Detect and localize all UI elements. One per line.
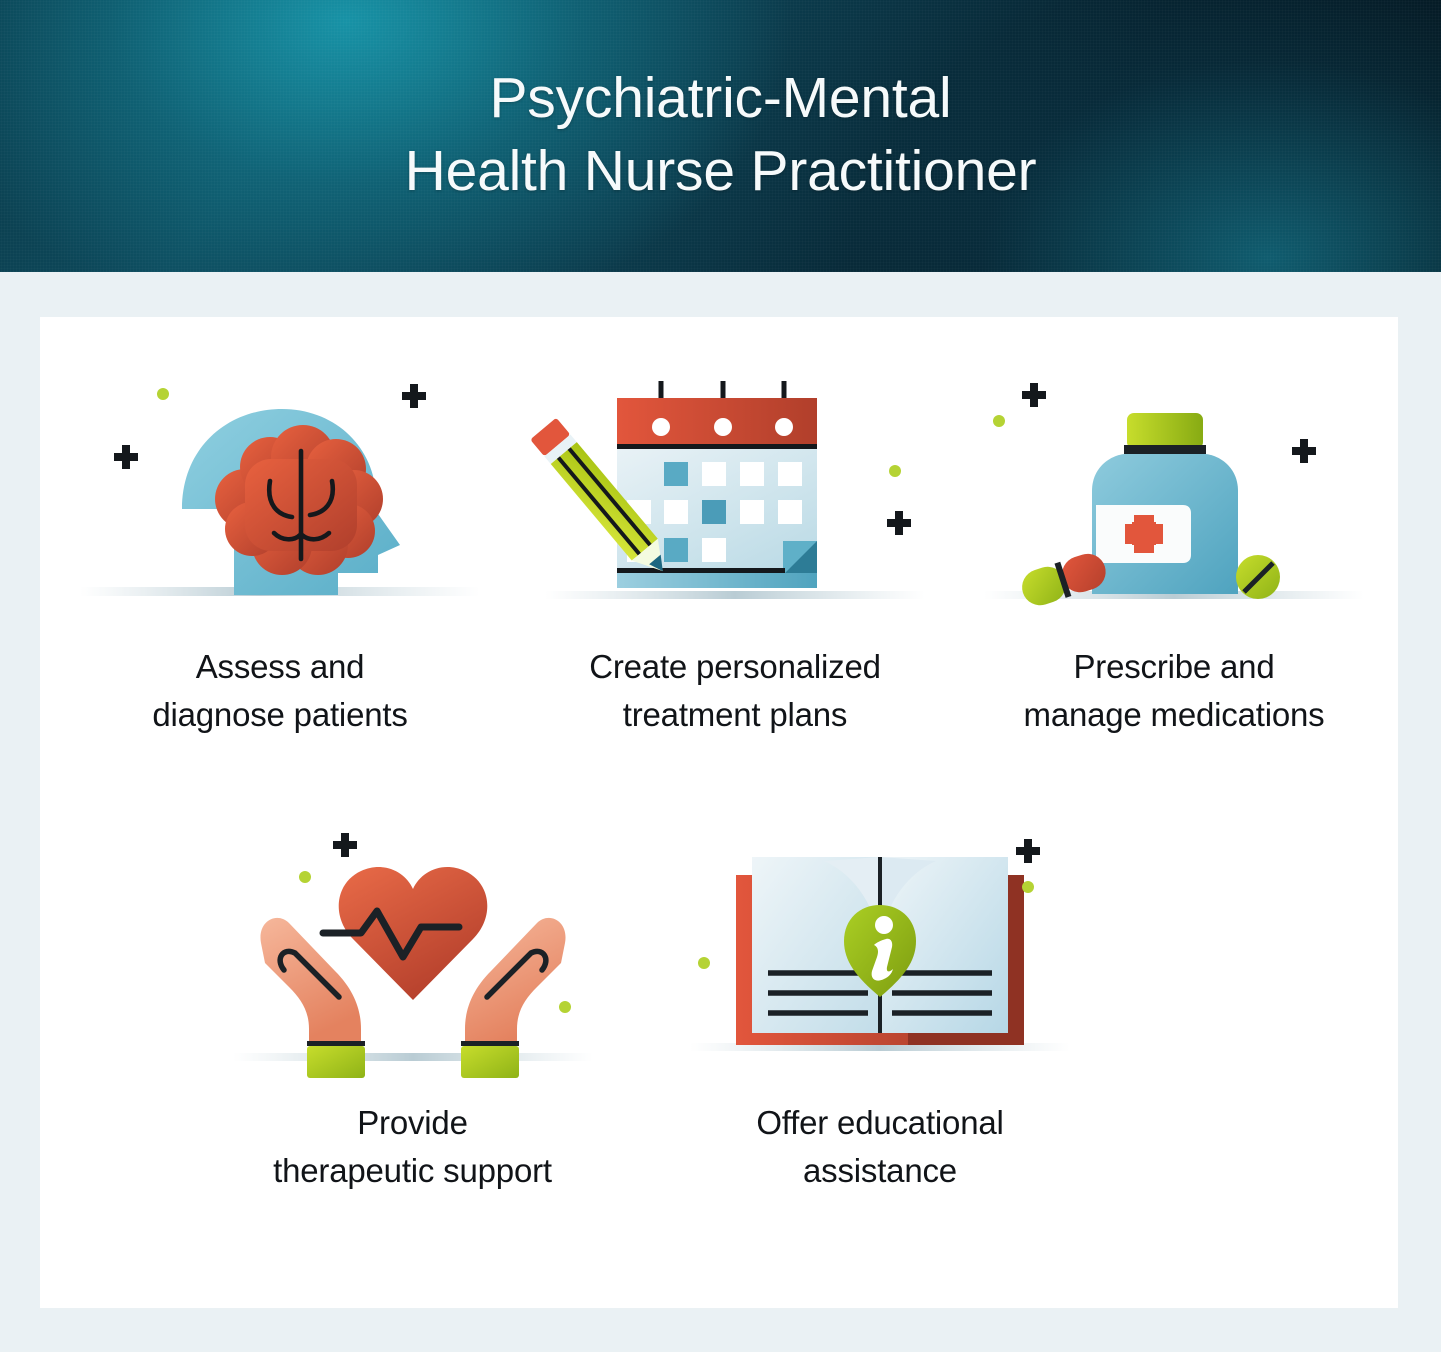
caption-line-2: diagnose patients <box>152 696 407 733</box>
caption-line-2: therapeutic support <box>273 1152 552 1189</box>
caption-line-2: treatment plans <box>623 696 847 733</box>
hands-heart-icon <box>213 815 613 1083</box>
caption-line-1: Assess and <box>196 648 365 685</box>
item-caption: Offer educationalassistance <box>756 1099 1003 1195</box>
head-brain-icon <box>70 359 490 627</box>
caption-line-1: Offer educational <box>756 1104 1003 1141</box>
page-title-line-2: Health Nurse Practitioner <box>0 135 1441 208</box>
header-banner: Psychiatric-Mental Health Nurse Practiti… <box>0 0 1441 272</box>
item-assess-and-diagnose: Assess anddiagnose patients <box>40 359 520 739</box>
caption-line-2: assistance <box>803 1152 957 1189</box>
item-caption: Prescribe andmanage medications <box>1024 643 1325 739</box>
item-caption: Create personalizedtreatment plans <box>589 643 881 739</box>
item-therapeutic-support: Providetherapeutic support <box>180 815 645 1195</box>
infographic-page: Psychiatric-Mental Health Nurse Practiti… <box>0 0 1441 1352</box>
items-row-1: Assess anddiagnose patients <box>40 359 1398 739</box>
page-title-line-1: Psychiatric-Mental <box>0 62 1441 135</box>
item-caption: Assess anddiagnose patients <box>152 643 407 739</box>
item-create-treatment-plans: Create personalizedtreatment plans <box>520 359 950 739</box>
caption-line-1: Provide <box>357 1104 468 1141</box>
page-title: Psychiatric-Mental Health Nurse Practiti… <box>0 62 1441 208</box>
caption-line-1: Create personalized <box>589 648 881 685</box>
items-row-2: Providetherapeutic support <box>40 815 1441 1195</box>
caption-line-1: Prescribe and <box>1073 648 1274 685</box>
medicine-bottle-icon <box>974 359 1374 627</box>
calendar-pencil-icon <box>535 359 935 627</box>
open-book-info-icon <box>680 815 1080 1083</box>
item-prescribe-medications: Prescribe andmanage medications <box>950 359 1398 739</box>
item-caption: Providetherapeutic support <box>273 1099 552 1195</box>
content-card: Assess anddiagnose patients <box>40 317 1398 1308</box>
item-educational-assistance: Offer educationalassistance <box>645 815 1115 1195</box>
caption-line-2: manage medications <box>1024 696 1325 733</box>
